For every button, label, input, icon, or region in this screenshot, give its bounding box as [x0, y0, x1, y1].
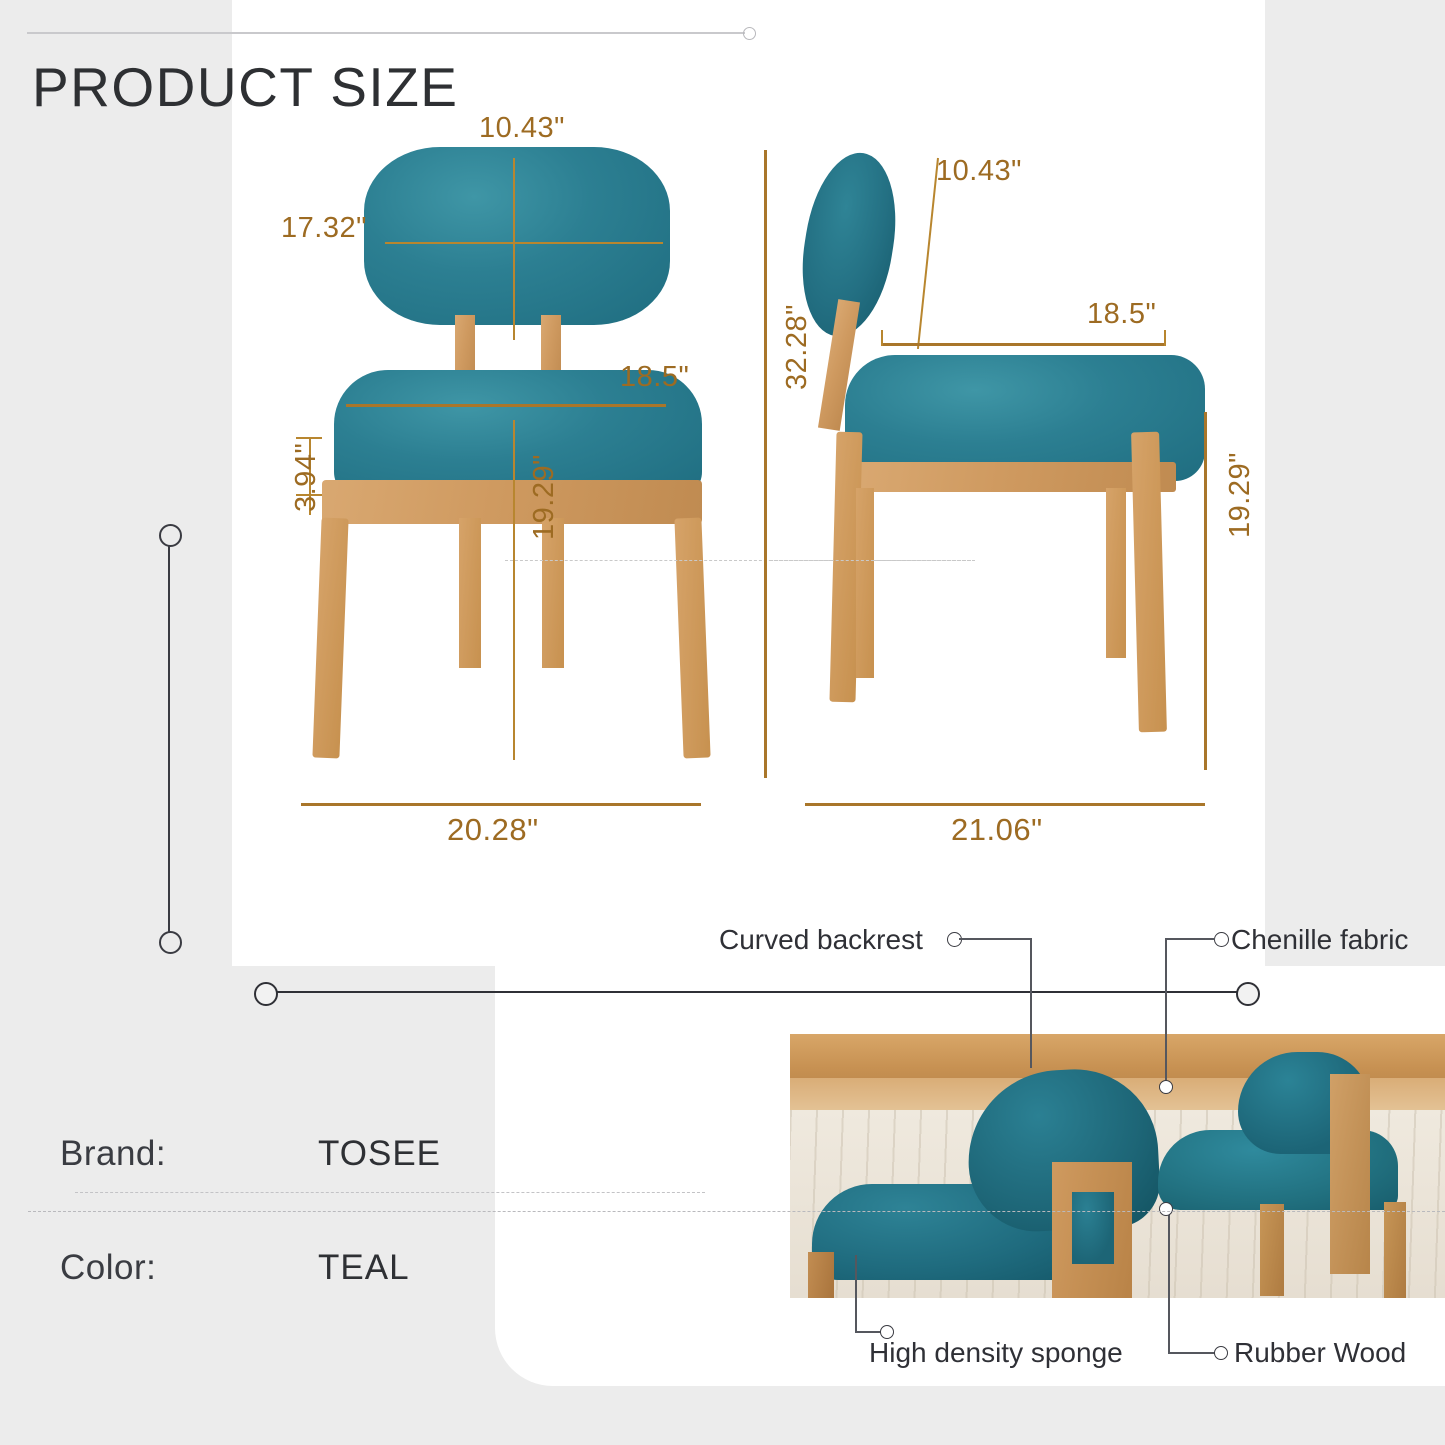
photo-chair-a-leg — [808, 1252, 834, 1298]
side-overall-depth-label: 21.06" — [951, 812, 1043, 848]
high-density-sponge-leader-v — [855, 1255, 857, 1332]
side-backrest-depth-label: 10.43" — [936, 155, 1022, 188]
product-lifestyle-photo — [790, 1034, 1445, 1298]
product-size-infographic: PRODUCT SIZE 10.43" 17.32" 18.5" 3.94" 1… — [0, 0, 1445, 1445]
side-overall-height-label: 32.28" — [781, 304, 814, 390]
spec-label-color: Color: — [60, 1248, 156, 1288]
spec-value-color: TEAL — [318, 1248, 410, 1288]
photo-chair-b-frame — [1330, 1074, 1370, 1274]
side-seat-depth-line — [881, 343, 1166, 346]
side-overall-depth-line — [805, 803, 1205, 806]
curved-backrest-leader-v — [1030, 938, 1032, 1068]
side-overall-height-line — [764, 150, 767, 778]
side-view-leg-back-far — [856, 488, 874, 678]
side-seat-height-guide-dash — [770, 560, 975, 561]
front-backrest-height-label: 17.32" — [281, 212, 367, 245]
side-view-leg-front-far — [1106, 488, 1126, 658]
photo-chair-b-leg-left — [1260, 1204, 1284, 1296]
front-seat-thickness-cap-top — [296, 437, 322, 439]
chenille-fabric-leader-v — [1165, 938, 1167, 1086]
front-overall-width-line — [301, 803, 701, 806]
rubber-wood-anchor-dot-icon — [1159, 1202, 1173, 1216]
front-seat-width-line — [346, 404, 666, 407]
rubber-wood-leader-v — [1168, 1208, 1170, 1353]
spec-divider-inner — [75, 1192, 705, 1193]
front-backrest-height-line — [385, 242, 663, 244]
section-divider-line — [266, 991, 1241, 993]
rubber-wood-leader-h — [1168, 1352, 1220, 1354]
front-seat-height-label: 19.29" — [528, 454, 561, 540]
top-divider-end-dot-icon — [743, 27, 756, 40]
callout-label-rubber-wood: Rubber Wood — [1234, 1337, 1406, 1369]
chenille-fabric-anchor-dot-icon — [1159, 1080, 1173, 1094]
front-seat-width-label: 18.5" — [620, 361, 689, 394]
callout-label-curved-backrest: Curved backrest — [719, 924, 923, 956]
section-divider-right-dot-icon — [1236, 982, 1260, 1006]
section-divider-left-dot-icon — [254, 982, 278, 1006]
side-seat-height-label: 19.29" — [1224, 452, 1257, 538]
front-view-seat-apron — [322, 480, 702, 524]
spec-label-brand: Brand: — [60, 1134, 166, 1174]
left-connector-bottom-dot-icon — [159, 931, 182, 954]
top-divider-line — [27, 32, 745, 34]
front-view-backrest — [364, 147, 670, 325]
front-seat-thickness-label: 3.94" — [290, 443, 323, 512]
callout-label-chenille-fabric: Chenille fabric — [1231, 924, 1408, 956]
front-view-leg-back-right — [542, 518, 564, 668]
chenille-fabric-leader-h — [1165, 938, 1215, 940]
side-view-seat-apron — [856, 462, 1176, 492]
front-seat-height-line — [513, 420, 515, 760]
left-connector-line — [168, 540, 170, 940]
side-seat-depth-label: 18.5" — [1087, 298, 1156, 331]
front-backrest-width-label: 10.43" — [479, 112, 565, 145]
side-seat-height-line — [1204, 412, 1207, 770]
photo-chair-a-frame-opening — [1072, 1192, 1114, 1264]
spec-divider-outer — [28, 1211, 1445, 1212]
callout-label-high-density-sponge: High density sponge — [869, 1337, 1123, 1369]
side-seat-depth-cap-left — [881, 330, 883, 346]
rubber-wood-dot-icon — [1214, 1346, 1228, 1360]
chenille-fabric-dot-icon — [1214, 932, 1229, 947]
front-overall-width-label: 20.28" — [447, 812, 539, 848]
photo-chair-b-leg-right — [1384, 1202, 1406, 1298]
front-backrest-width-tick — [513, 158, 515, 340]
left-connector-top-dot-icon — [159, 524, 182, 547]
side-seat-depth-cap-right — [1164, 330, 1166, 346]
curved-backrest-leader-h — [959, 938, 1031, 940]
page-title: PRODUCT SIZE — [32, 55, 458, 119]
spec-value-brand: TOSEE — [318, 1134, 441, 1174]
high-density-sponge-dot-icon — [880, 1325, 894, 1339]
front-view-leg-back-left — [459, 518, 481, 668]
